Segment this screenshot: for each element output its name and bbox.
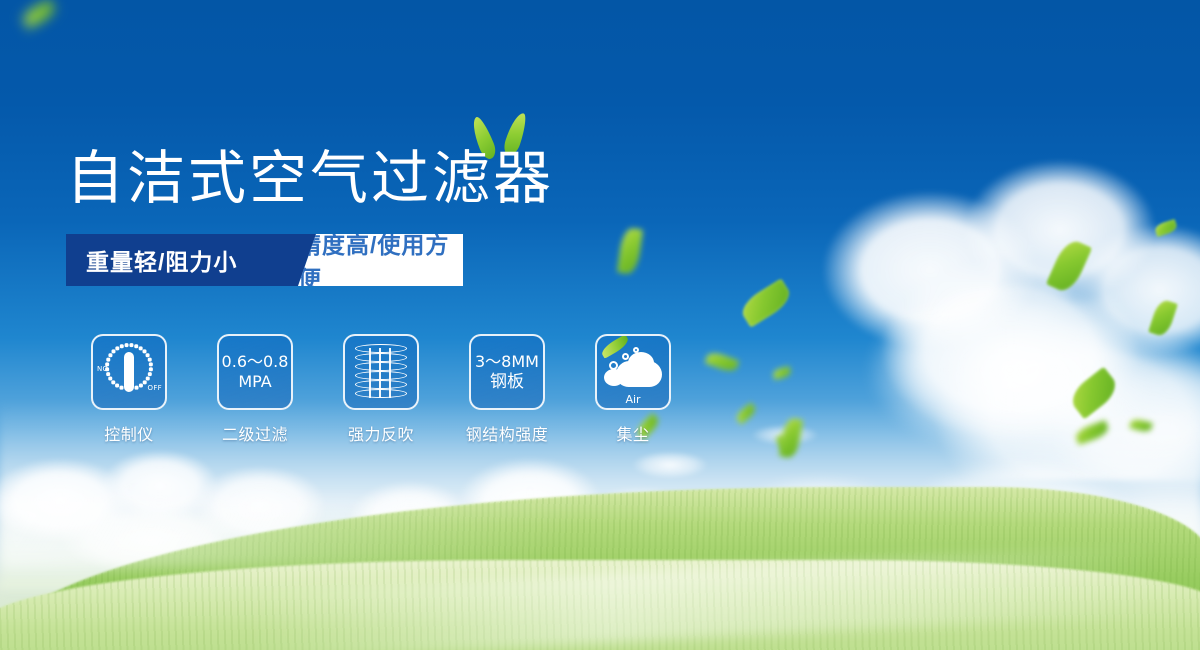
- steel-thickness-line1: 3〜8MM: [475, 352, 539, 372]
- gauge-tick: [112, 350, 115, 353]
- gauge-tick: [149, 363, 152, 366]
- steel-plate-text-icon: 3〜8MM 钢板: [469, 334, 545, 410]
- steel-thickness-line2: 钢板: [490, 372, 524, 392]
- gauge-tick: [139, 347, 142, 350]
- gauge-tick: [125, 344, 128, 347]
- pressure-value-line2: MPA: [238, 372, 271, 392]
- pressure-text-icon: 0.6〜0.8 MPA: [217, 334, 293, 410]
- cartridge-disc: [355, 362, 407, 371]
- grass-hill-front: [0, 560, 1200, 650]
- cartridge-graphic: [355, 344, 407, 400]
- gauge-tick: [107, 358, 110, 361]
- floating-leaf-icon: [737, 278, 795, 328]
- grass-hill-back: [0, 487, 1200, 650]
- gauge-tick: [148, 372, 151, 375]
- gauge-tick: [120, 345, 123, 348]
- gauge-tick: [146, 354, 149, 357]
- gauge-tick: [116, 347, 119, 350]
- cartridge-disc: [355, 380, 407, 389]
- grass-path-highlight: [249, 544, 1151, 650]
- gauge-tick: [109, 377, 112, 380]
- gauge-on-label: NO: [97, 365, 108, 373]
- grass-highlight: [0, 498, 700, 568]
- gauge-tick: [139, 384, 142, 387]
- floating-leaf-icon: [1129, 418, 1153, 434]
- feature-item-dust-collection[interactable]: Air 集尘: [570, 334, 696, 445]
- gauge-tick: [120, 386, 123, 389]
- grass-texture-back: [0, 487, 1200, 650]
- cartridge-disc: [355, 344, 407, 353]
- feature-label: 强力反吹: [348, 421, 414, 445]
- gauge-tick: [146, 377, 149, 380]
- feature-label: 集尘: [616, 421, 649, 445]
- cloud-wisp-1: [615, 440, 735, 490]
- floating-leaf-icon: [705, 350, 740, 374]
- floating-leaf-icon: [1046, 237, 1093, 296]
- pressure-value-line1: 0.6〜0.8: [222, 352, 289, 372]
- floating-leaf-icon: [779, 417, 804, 460]
- feature-label: 钢结构强度: [466, 421, 549, 445]
- cloud-puff-left: [604, 369, 624, 386]
- cloud-horizon-right: [700, 450, 1200, 600]
- filter-cartridge-icon: [343, 334, 419, 410]
- floating-leaf-icon: [772, 366, 792, 380]
- tagline-left-text: 重量轻/阻力小: [66, 234, 316, 286]
- floating-leaf-icon: [1148, 298, 1178, 338]
- feature-item-controller[interactable]: NO OFF 控制仪: [66, 334, 192, 445]
- cloud-horizon-mid: [330, 440, 750, 600]
- floating-leaf-icon: [1073, 420, 1110, 446]
- gauge-tick: [149, 368, 152, 371]
- air-cloud-dust-icon: Air: [595, 334, 671, 410]
- gauge-tick: [135, 386, 138, 389]
- cartridge-disc: [355, 353, 407, 362]
- page-title: 自洁式空气过滤器: [66, 143, 554, 213]
- gauge-tick: [143, 381, 146, 384]
- gauge-tick: [115, 384, 118, 387]
- floating-leaf-icon: [617, 227, 643, 275]
- gauge-tick: [143, 350, 146, 353]
- dust-particle-icon: [609, 361, 618, 370]
- gauge-off-label: OFF: [148, 384, 162, 392]
- tagline-right-text: 精度高/使用方便: [298, 234, 463, 286]
- cloud-upper-right-2: [810, 230, 1200, 530]
- gauge-dial: NO OFF: [97, 343, 161, 401]
- gauge-tick: [109, 354, 112, 357]
- cloud-graphic: Air: [602, 345, 664, 399]
- product-banner: 自洁式空气过滤器 重量轻/阻力小 精度高/使用方便 NO OFF 控制仪 0.6…: [0, 0, 1200, 650]
- gauge-tick: [135, 345, 138, 348]
- tagline-badge: 重量轻/阻力小 精度高/使用方便: [66, 234, 463, 286]
- feature-item-two-stage-filter[interactable]: 0.6〜0.8 MPA 二级过滤: [192, 334, 318, 445]
- feature-list: NO OFF 控制仪 0.6〜0.8 MPA 二级过滤: [66, 334, 696, 445]
- gauge-tick: [112, 381, 115, 384]
- grass-texture-front: [0, 560, 1200, 650]
- floating-leaf-icon: [734, 402, 758, 425]
- feature-label: 二级过滤: [222, 421, 288, 445]
- gauge-tick: [148, 358, 151, 361]
- feature-label: 控制仪: [104, 421, 154, 445]
- cartridge-disc: [355, 389, 407, 398]
- air-label: Air: [602, 393, 664, 406]
- gauge-needle: [124, 352, 134, 392]
- gauge-tick: [130, 344, 133, 347]
- cloud-horizon-left: [0, 430, 400, 580]
- floating-leaf-icon: [1154, 219, 1179, 237]
- gauge-control-icon: NO OFF: [91, 334, 167, 410]
- floating-leaf-icon: [20, 0, 58, 29]
- floating-leaf-icon: [1066, 366, 1122, 419]
- cartridge-disc: [355, 371, 407, 380]
- feature-item-steel-strength[interactable]: 3〜8MM 钢板 钢结构强度: [444, 334, 570, 445]
- feature-item-backblow[interactable]: 强力反吹: [318, 334, 444, 445]
